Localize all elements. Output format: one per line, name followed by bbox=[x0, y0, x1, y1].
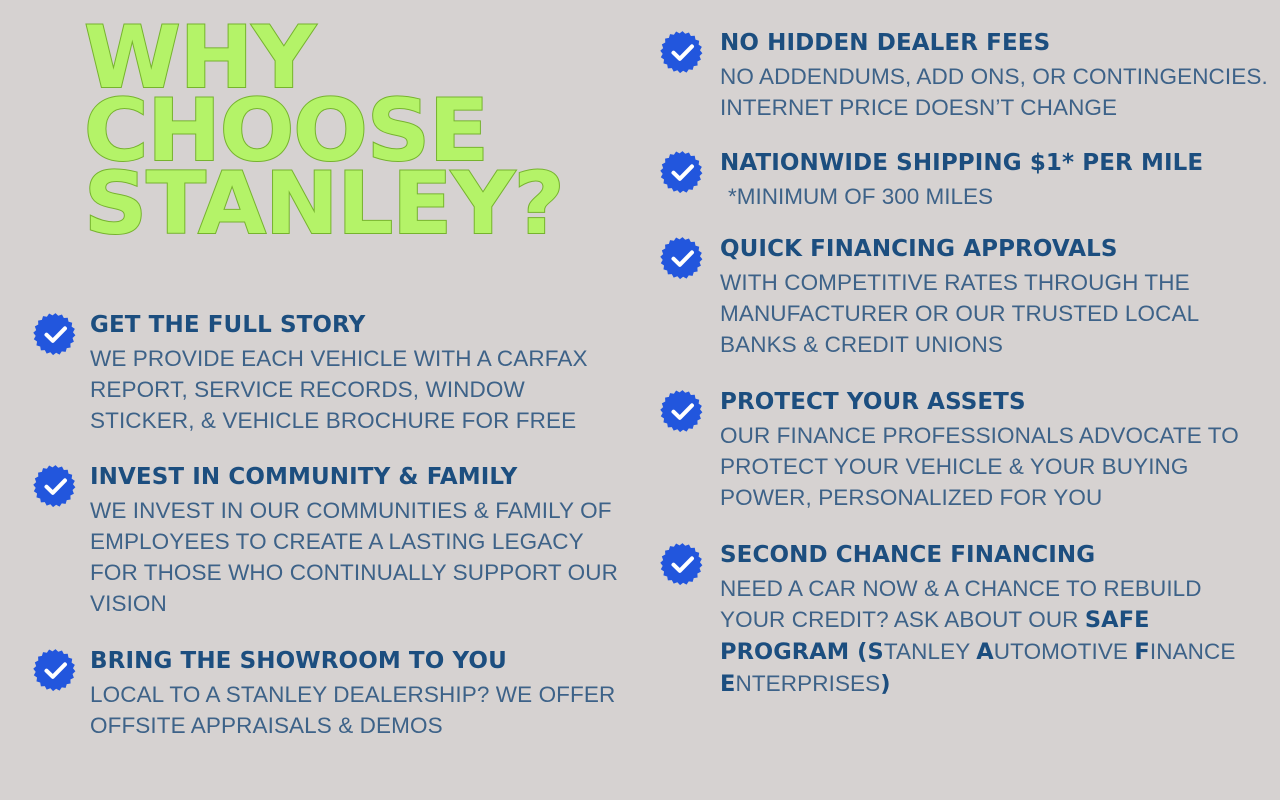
feature-title: QUICK FINANCING APPROVALS bbox=[720, 234, 1268, 264]
page-title: WHY CHOOSE STANLEY? bbox=[84, 22, 644, 241]
features-right-column: NO HIDDEN DEALER FEES NO ADDENDUMS, ADD … bbox=[628, 28, 1268, 724]
features-left-column: GET THE FULL STORY WE PROVIDE EACH VEHIC… bbox=[0, 310, 620, 765]
feature-body: LOCAL TO A STANLEY DEALERSHIP? WE OFFER … bbox=[90, 679, 620, 741]
verified-check-badge-icon bbox=[660, 542, 705, 587]
verified-check-badge-icon bbox=[660, 389, 705, 434]
feature-body: NO ADDENDUMS, ADD ONS, OR CONTINGENCIES.… bbox=[720, 61, 1268, 123]
verified-check-badge-icon bbox=[33, 648, 78, 693]
feature-footnote: *MINIMUM OF 300 MILES bbox=[720, 181, 1268, 212]
feature-title: NATIONWIDE SHIPPING $1* PER MILE bbox=[720, 148, 1268, 178]
feature-item-protect-your-assets: PROTECT YOUR ASSETS OUR FINANCE PROFESSI… bbox=[628, 387, 1268, 513]
verified-check-badge-icon bbox=[660, 236, 705, 281]
verified-check-badge-icon bbox=[33, 312, 78, 357]
verified-check-badge-icon bbox=[33, 464, 78, 509]
feature-item-quick-financing-approvals: QUICK FINANCING APPROVALS WITH COMPETITI… bbox=[628, 234, 1268, 360]
feature-title: INVEST IN COMMUNITY & FAMILY bbox=[90, 462, 620, 492]
feature-item-invest-in-community-and-family: INVEST IN COMMUNITY & FAMILY WE INVEST I… bbox=[0, 462, 620, 619]
feature-title: BRING THE SHOWROOM TO YOU bbox=[90, 646, 620, 676]
feature-title: PROTECT YOUR ASSETS bbox=[720, 387, 1268, 417]
why-choose-stanley-poster: WHY CHOOSE STANLEY? GET THE FULL STORY W… bbox=[0, 0, 1280, 800]
feature-title: SECOND CHANCE FINANCING bbox=[720, 540, 1268, 570]
verified-check-badge-icon bbox=[660, 30, 705, 75]
feature-body: OUR FINANCE PROFESSIONALS ADVOCATE TO PR… bbox=[720, 420, 1268, 513]
feature-item-second-chance-financing: SECOND CHANCE FINANCING NEED A CAR NOW &… bbox=[628, 540, 1268, 700]
feature-item-get-the-full-story: GET THE FULL STORY WE PROVIDE EACH VEHIC… bbox=[0, 310, 620, 436]
feature-item-nationwide-shipping: NATIONWIDE SHIPPING $1* PER MILE *MINIMU… bbox=[628, 148, 1268, 212]
verified-check-badge-icon bbox=[660, 150, 705, 195]
feature-title: NO HIDDEN DEALER FEES bbox=[720, 28, 1268, 58]
feature-body: WE PROVIDE EACH VEHICLE WITH A CARFAX RE… bbox=[90, 343, 620, 436]
feature-item-bring-the-showroom-to-you: BRING THE SHOWROOM TO YOU LOCAL TO A STA… bbox=[0, 646, 620, 741]
feature-item-no-hidden-dealer-fees: NO HIDDEN DEALER FEES NO ADDENDUMS, ADD … bbox=[628, 28, 1268, 123]
feature-title: GET THE FULL STORY bbox=[90, 310, 620, 340]
page-title-line-3: STANLEY? bbox=[84, 168, 655, 241]
feature-body: WITH COMPETITIVE RATES THROUGH THE MANUF… bbox=[720, 267, 1268, 360]
feature-body-rich: NEED A CAR NOW & A CHANCE TO REBUILD YOU… bbox=[720, 573, 1268, 700]
feature-body: WE INVEST IN OUR COMMUNITIES & FAMILY OF… bbox=[90, 495, 620, 619]
